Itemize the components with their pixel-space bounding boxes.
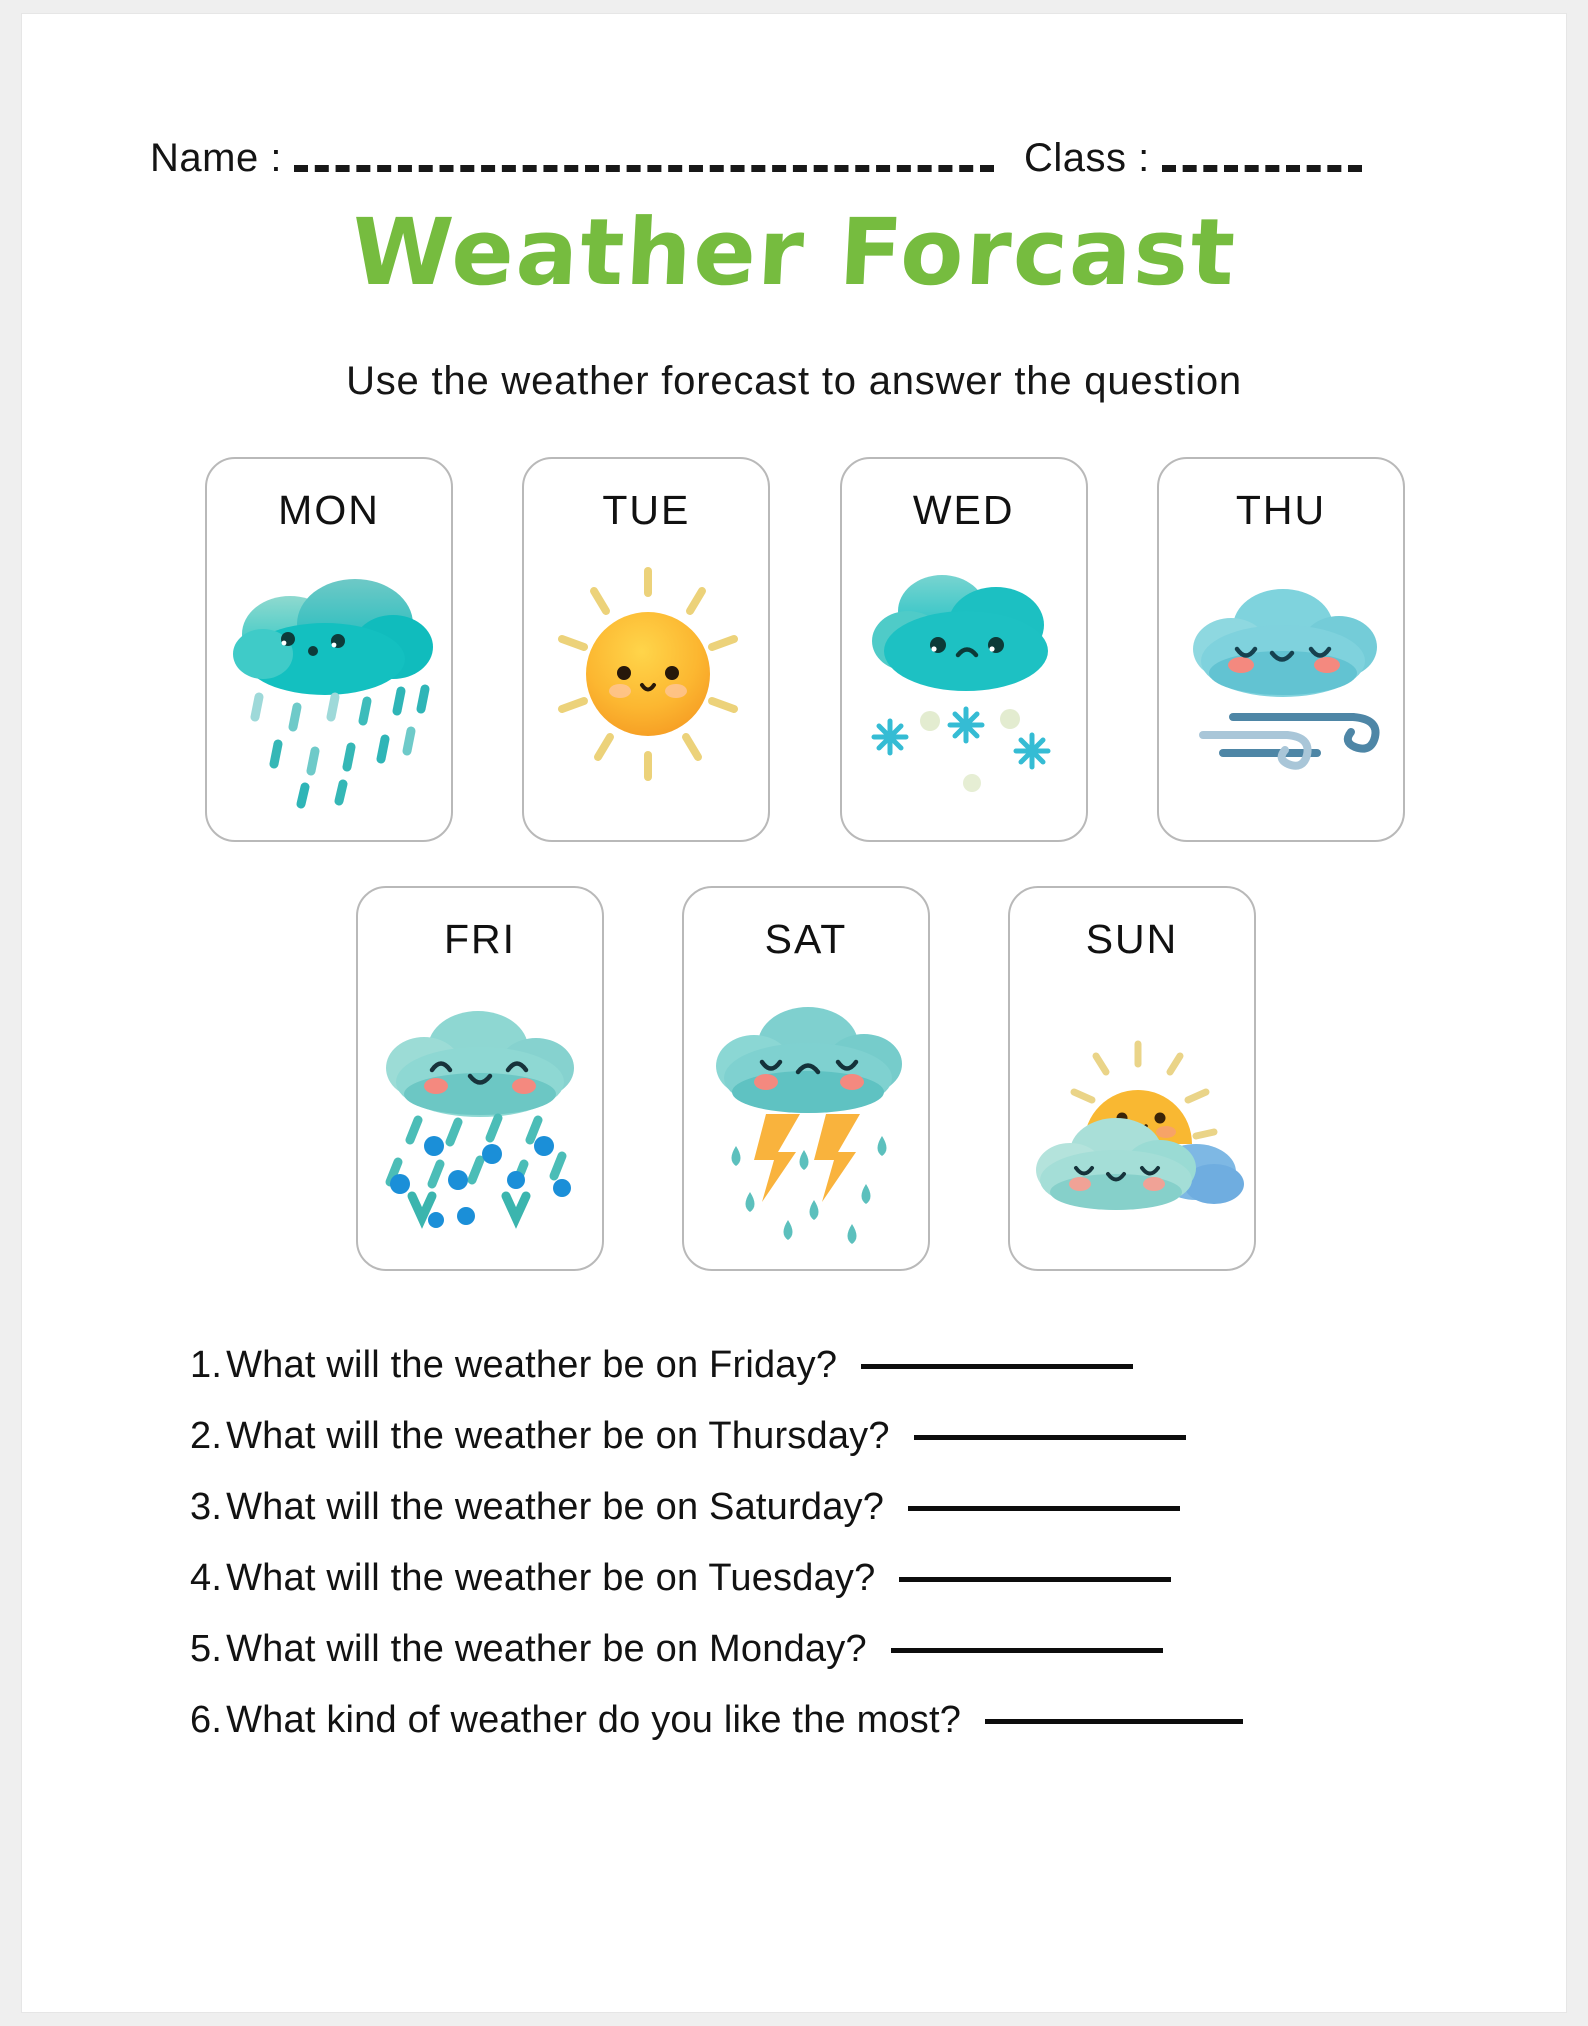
question-text: What will the weather be on Monday?: [226, 1628, 867, 1671]
name-input-line[interactable]: [294, 139, 994, 172]
answer-input-line[interactable]: [908, 1506, 1180, 1511]
name-label: Name :: [150, 138, 282, 178]
question-row: 1. What will the weather be on Friday?: [190, 1344, 1450, 1415]
questions-list: 1. What will the weather be on Friday? 2…: [190, 1344, 1450, 1770]
question-text: What will the weather be on Tuesday?: [226, 1557, 875, 1600]
forecast-card-mon[interactable]: MON: [205, 457, 453, 842]
worksheet-page: Name : Class : Weather Forcast Use the w…: [22, 14, 1566, 2012]
day-label: SAT: [684, 916, 928, 963]
forecast-card-tue[interactable]: TUE: [522, 457, 770, 842]
day-label: MON: [207, 487, 451, 534]
day-label: TUE: [524, 487, 768, 534]
forecast-card-sat[interactable]: SAT: [682, 886, 930, 1271]
answer-input-line[interactable]: [891, 1648, 1163, 1653]
page-title: Weather Forcast: [22, 199, 1566, 306]
rain-cloud-icon: [215, 539, 447, 829]
wind-cloud-icon: [1167, 539, 1399, 829]
forecast-card-wed[interactable]: WED: [840, 457, 1088, 842]
thunderstorm-cloud-icon: [692, 968, 924, 1258]
day-label: SUN: [1010, 916, 1254, 963]
question-number: 2.: [190, 1415, 222, 1458]
answer-input-line[interactable]: [985, 1719, 1243, 1724]
question-number: 6.: [190, 1699, 222, 1742]
class-label: Class :: [1024, 138, 1150, 178]
answer-input-line[interactable]: [899, 1577, 1171, 1582]
question-number: 3.: [190, 1486, 222, 1529]
question-number: 5.: [190, 1628, 222, 1671]
question-text: What will the weather be on Friday?: [226, 1344, 837, 1387]
day-label: THU: [1159, 487, 1403, 534]
question-text: What will the weather be on Thursday?: [226, 1415, 890, 1458]
sun-icon: [532, 539, 764, 829]
forecast-row-two: FRI: [356, 886, 1256, 1271]
question-number: 1.: [190, 1344, 222, 1387]
day-label: WED: [842, 487, 1086, 534]
hail-cloud-icon: [366, 968, 598, 1258]
answer-input-line[interactable]: [861, 1364, 1133, 1369]
forecast-card-sunday[interactable]: SUN: [1008, 886, 1256, 1271]
question-row: 4. What will the weather be on Tuesday?: [190, 1557, 1450, 1628]
forecast-card-thu[interactable]: THU: [1157, 457, 1405, 842]
snow-cloud-icon: [850, 539, 1082, 829]
partly-cloudy-icon: [1018, 968, 1250, 1258]
question-row: 3. What will the weather be on Saturday?: [190, 1486, 1450, 1557]
student-info-row: Name : Class :: [150, 126, 1470, 178]
question-text: What kind of weather do you like the mos…: [226, 1699, 961, 1742]
class-input-line[interactable]: [1162, 139, 1362, 172]
question-text: What will the weather be on Saturday?: [226, 1486, 884, 1529]
question-number: 4.: [190, 1557, 222, 1600]
page-background: Name : Class : Weather Forcast Use the w…: [0, 0, 1588, 2026]
day-label: FRI: [358, 916, 602, 963]
forecast-row-one: MON: [205, 457, 1405, 842]
question-row: 6. What kind of weather do you like the …: [190, 1699, 1450, 1770]
question-row: 5. What will the weather be on Monday?: [190, 1628, 1450, 1699]
forecast-card-fri[interactable]: FRI: [356, 886, 604, 1271]
answer-input-line[interactable]: [914, 1435, 1186, 1440]
question-row: 2. What will the weather be on Thursday?: [190, 1415, 1450, 1486]
instruction-text: Use the weather forecast to answer the q…: [22, 359, 1566, 404]
